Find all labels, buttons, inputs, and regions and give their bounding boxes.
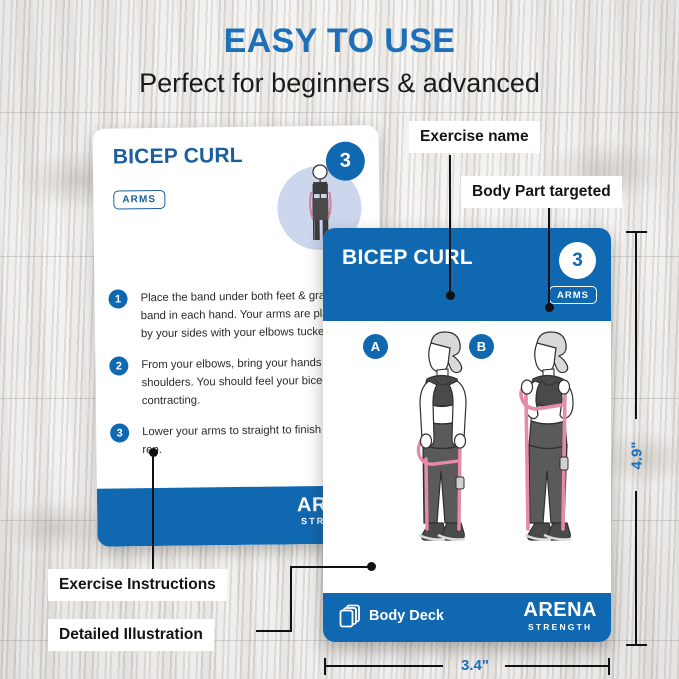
figure-a-illustration [385,329,503,575]
leader-dot-exercise-instructions [149,448,158,457]
back-card-number-badge: 3 [326,141,365,180]
dimension-cap-right [608,658,610,675]
infographic-canvas: EASY TO USE Perfect for beginners & adva… [0,0,679,679]
leader-line-body-part [548,208,550,308]
leader-line-exercise-name [449,155,451,295]
front-card-body-part-badge: ARMS [549,286,597,304]
front-card-header: BICEP CURL 3 ARMS [323,228,611,321]
step-text: Lower your arms to straight to finish th… [142,424,340,456]
page-title: EASY TO USE [0,22,679,61]
body-deck-label: Body Deck [369,608,444,624]
leader-line-exercise-instructions [152,452,154,569]
front-card-title: BICEP CURL [342,246,473,270]
leader-dot-detailed-illustration [367,562,376,571]
step-text: Place the band under both feet & grab th… [140,290,350,341]
exercise-card-front: BICEP CURL 3 ARMS A B [323,228,611,642]
brand-name-primary: ARENA [523,600,597,620]
leader-line-detailed-illustration-h2 [256,630,292,632]
back-card-body-part-badge: ARMS [113,190,165,210]
step-number-badge: 1 [108,289,127,308]
brand-logo: ARENA STRENGTH [523,600,597,632]
callout-exercise-instructions: Exercise Instructions [48,569,227,601]
front-card-footer-bar: Body Deck ARENA STRENGTH [323,593,611,642]
dimension-width-label: 3.4" [447,657,503,674]
front-card-illustration-area: A B [323,321,611,593]
leader-dot-body-part [545,303,554,312]
stacked-cards-icon [339,604,361,628]
instruction-step: 1 Place the band under both feet & grab … [108,286,359,343]
callout-detailed-illustration: Detailed Illustration [48,619,214,651]
front-card-number-badge: 3 [559,242,596,279]
dimension-cap-bottom [626,644,647,646]
step-number-badge: 3 [110,423,129,442]
callout-exercise-name: Exercise name [409,121,540,153]
brand-name-secondary: STRENGTH [523,623,597,632]
leader-line-detailed-illustration-v [290,566,292,632]
dimension-line-width-left [324,665,443,667]
dimension-line-height-upper [635,231,637,419]
callout-body-part-targeted: Body Part targeted [461,176,622,208]
dimension-height-label: 4.9" [629,437,646,475]
dimension-line-width-right [505,665,610,667]
figure-b-illustration [491,329,609,575]
step-number-badge: 2 [109,356,128,375]
leader-line-detailed-illustration-h1 [290,566,372,568]
dimension-line-height-lower [635,491,637,646]
back-card-title: BICEP CURL [113,144,243,170]
leader-dot-exercise-name [446,291,455,300]
page-subtitle: Perfect for beginners & advanced [0,68,679,99]
body-deck-label-group: Body Deck [339,604,444,628]
